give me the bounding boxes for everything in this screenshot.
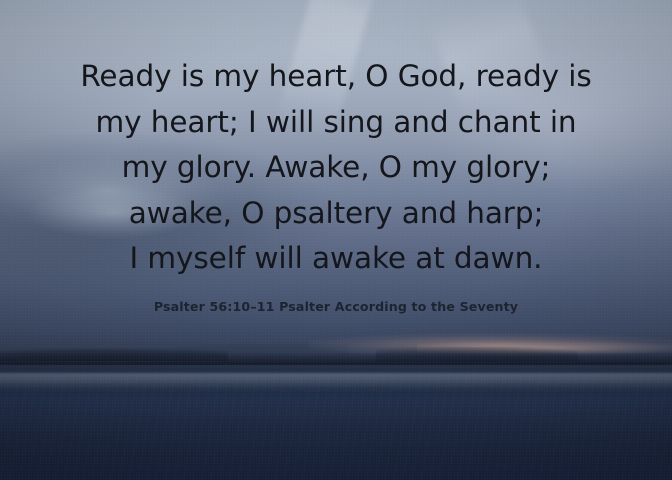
sunset-glow-band-lower bbox=[417, 340, 672, 356]
headland-right bbox=[376, 347, 578, 362]
quote-line: Ready is my heart, O God, ready is bbox=[0, 54, 672, 100]
quote-line: awake, O psaltery and harp; bbox=[0, 191, 672, 237]
citation-text: Psalter 56:10–11 Psalter According to th… bbox=[0, 299, 672, 314]
quote-image-canvas: Ready is my heart, O God, ready is my he… bbox=[0, 0, 672, 480]
distant-mountain-ridge bbox=[175, 344, 350, 362]
water-ripple-texture bbox=[0, 374, 672, 480]
quote-line: my glory. Awake, O my glory; bbox=[0, 145, 672, 191]
quote-text-block: Ready is my heart, O God, ready is my he… bbox=[0, 0, 672, 314]
water-specular-band bbox=[0, 371, 672, 393]
quote-line: I myself will awake at dawn. bbox=[0, 236, 672, 282]
shoreline-silhouette bbox=[0, 352, 672, 373]
water-surface bbox=[0, 365, 672, 480]
quote-line: my heart; I will sing and chant in bbox=[0, 100, 672, 146]
sunset-glow-band bbox=[309, 329, 672, 358]
headland-left bbox=[0, 348, 228, 360]
